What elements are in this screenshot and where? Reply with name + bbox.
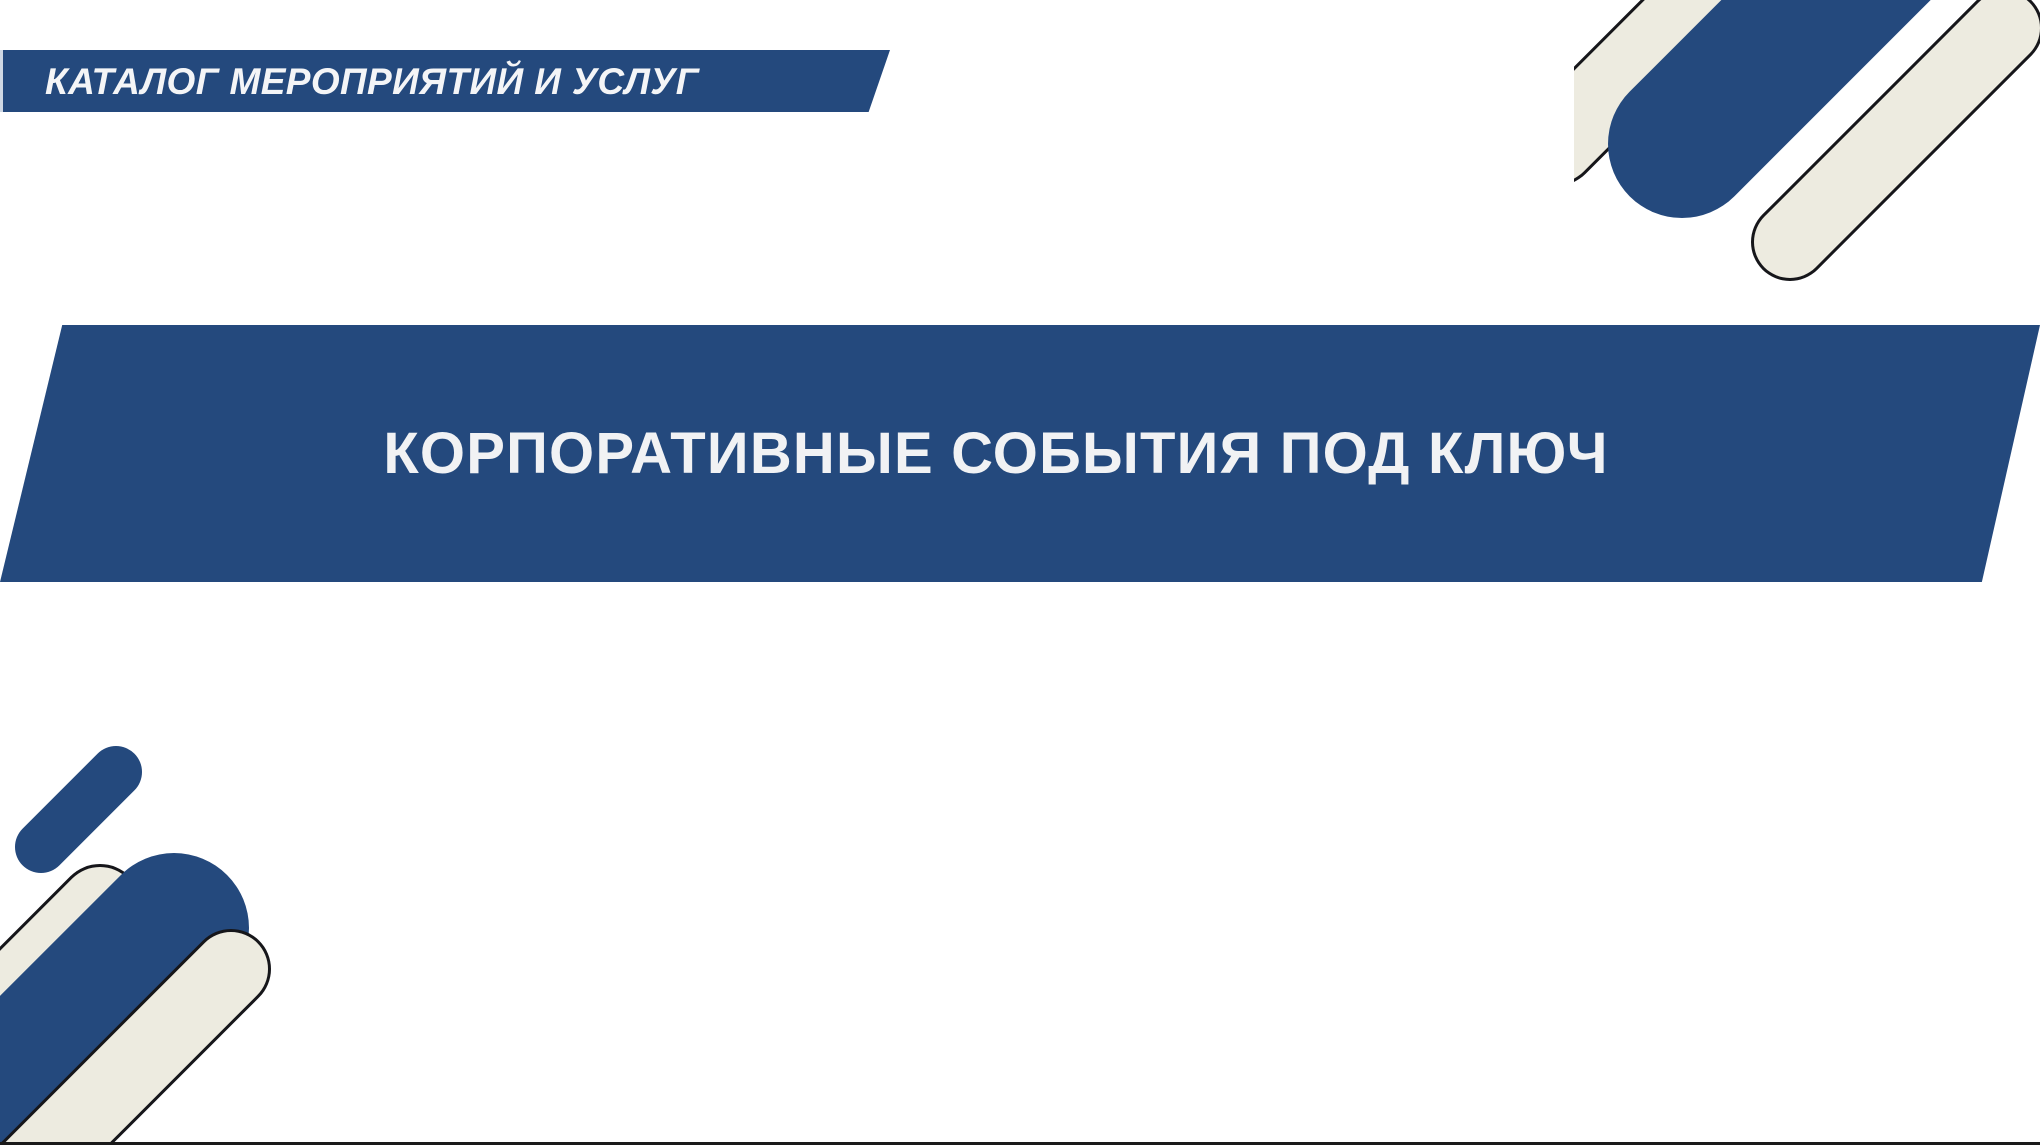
- small-blue-pill-icon: [41, 772, 116, 847]
- small-blue-pill-icon: [1664, 0, 1774, 32]
- category-banner: КАТАЛОГ МЕРОПРИЯТИЙ И УСЛУГ: [0, 50, 890, 112]
- bottom-left-decoration: [0, 742, 394, 1142]
- category-banner-label: КАТАЛОГ МЕРОПРИЯТИЙ И УСЛУГ: [45, 63, 699, 100]
- page-title: КОРПОРАТИВНЫЕ СОБЫТИЯ ПОД КЛЮЧ: [383, 425, 1608, 483]
- large-blue-pill-icon: [0, 928, 174, 1142]
- cream-pill-upper-icon: [1574, 0, 1824, 144]
- title-slab: КОРПОРАТИВНЫЕ СОБЫТИЯ ПОД КЛЮЧ: [0, 325, 2040, 582]
- cream-pill-lower-icon: [1790, 28, 2004, 242]
- top-right-decoration: [1574, 0, 2040, 284]
- cream-pill-upper-icon: [0, 906, 100, 1072]
- presentation-slide: КАТАЛОГ МЕРОПРИЯТИЙ И УСЛУГ КОРПОРАТИВНЫ…: [0, 0, 2040, 1145]
- cream-pill-lower-icon: [18, 969, 231, 1142]
- large-blue-pill-icon: [1682, 0, 1924, 144]
